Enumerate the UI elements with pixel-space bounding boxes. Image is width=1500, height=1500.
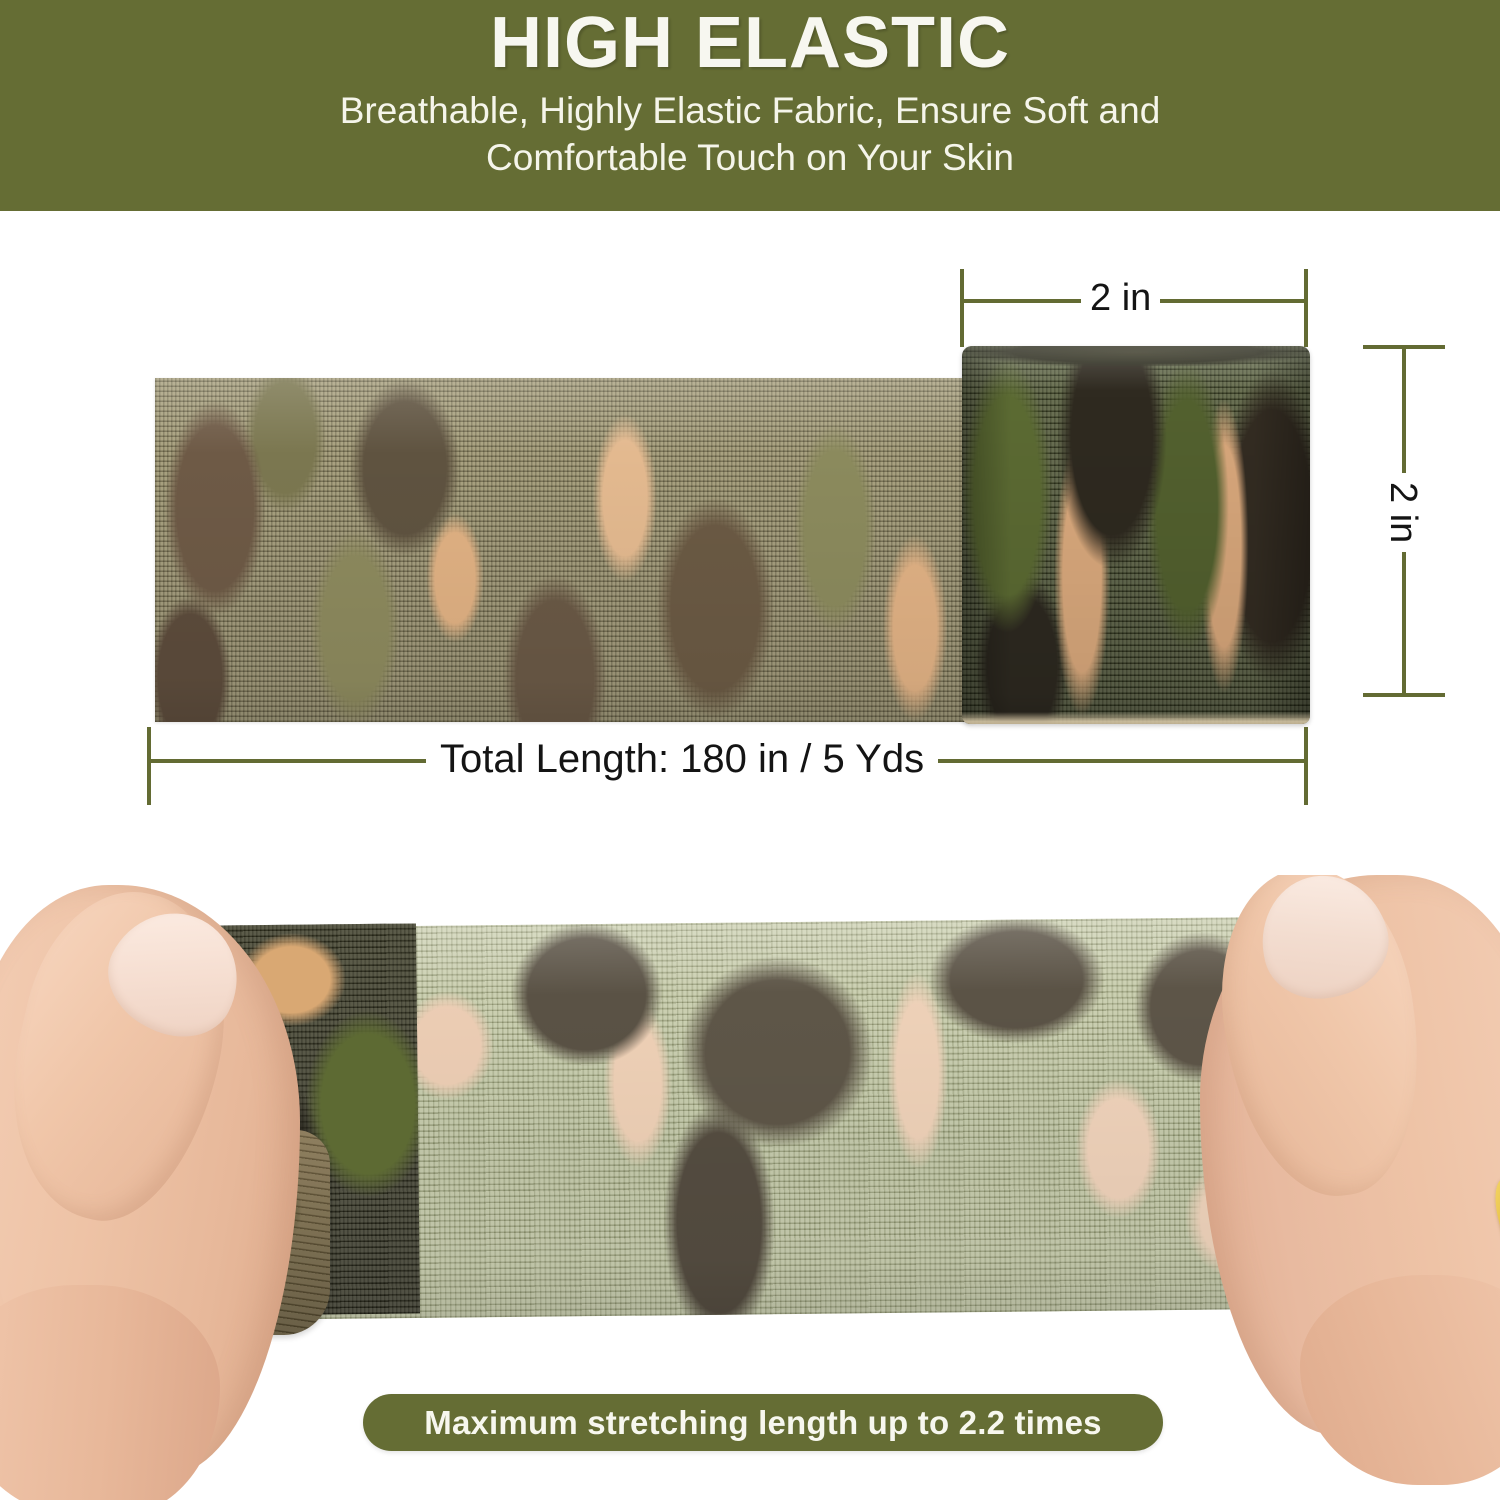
total-length-label: Total Length: 180 in / 5 Yds [426, 739, 938, 779]
length-dim-tick-right [1304, 727, 1308, 805]
stretch-badge-label: Maximum stretching length up to 2.2 time… [424, 1404, 1101, 1442]
stretch-badge: Maximum stretching length up to 2.2 time… [363, 1394, 1163, 1451]
right-hand-fingers [1300, 1275, 1500, 1485]
left-thumb [0, 875, 253, 1239]
right-hand [1200, 875, 1500, 1435]
height-dim-label: 2 in [1384, 473, 1422, 552]
header-subtitle-line-1: Breathable, Highly Elastic Fabric, Ensur… [340, 87, 1161, 134]
page-title: HIGH ELASTIC [490, 6, 1010, 81]
tape-roll-image [962, 346, 1310, 724]
left-hand [0, 885, 300, 1475]
width-dim-tick-left [960, 269, 964, 347]
header-subtitle-line-2: Comfortable Touch on Your Skin [340, 134, 1161, 181]
right-thumbnail [1247, 875, 1400, 1012]
tape-roll-shading [962, 346, 1310, 724]
right-thumb [1204, 875, 1438, 1209]
width-dim-label: 2 in [1081, 279, 1160, 317]
product-dimensions-figure: 2 in 2 in Total Length: 180 in / 5 Yds [0, 211, 1500, 871]
left-thumbnail [90, 891, 260, 1057]
length-dim-tick-left [147, 727, 151, 805]
width-dim-tick-right [1304, 269, 1308, 347]
tape-roll-bottom-edge [962, 712, 1310, 724]
header-banner: HIGH ELASTIC Breathable, Highly Elastic … [0, 0, 1500, 211]
left-hand-fingers [0, 1285, 220, 1500]
gold-ring [1489, 1171, 1500, 1290]
tape-strip-image [155, 378, 975, 722]
tape-strip-sheen [155, 378, 975, 722]
